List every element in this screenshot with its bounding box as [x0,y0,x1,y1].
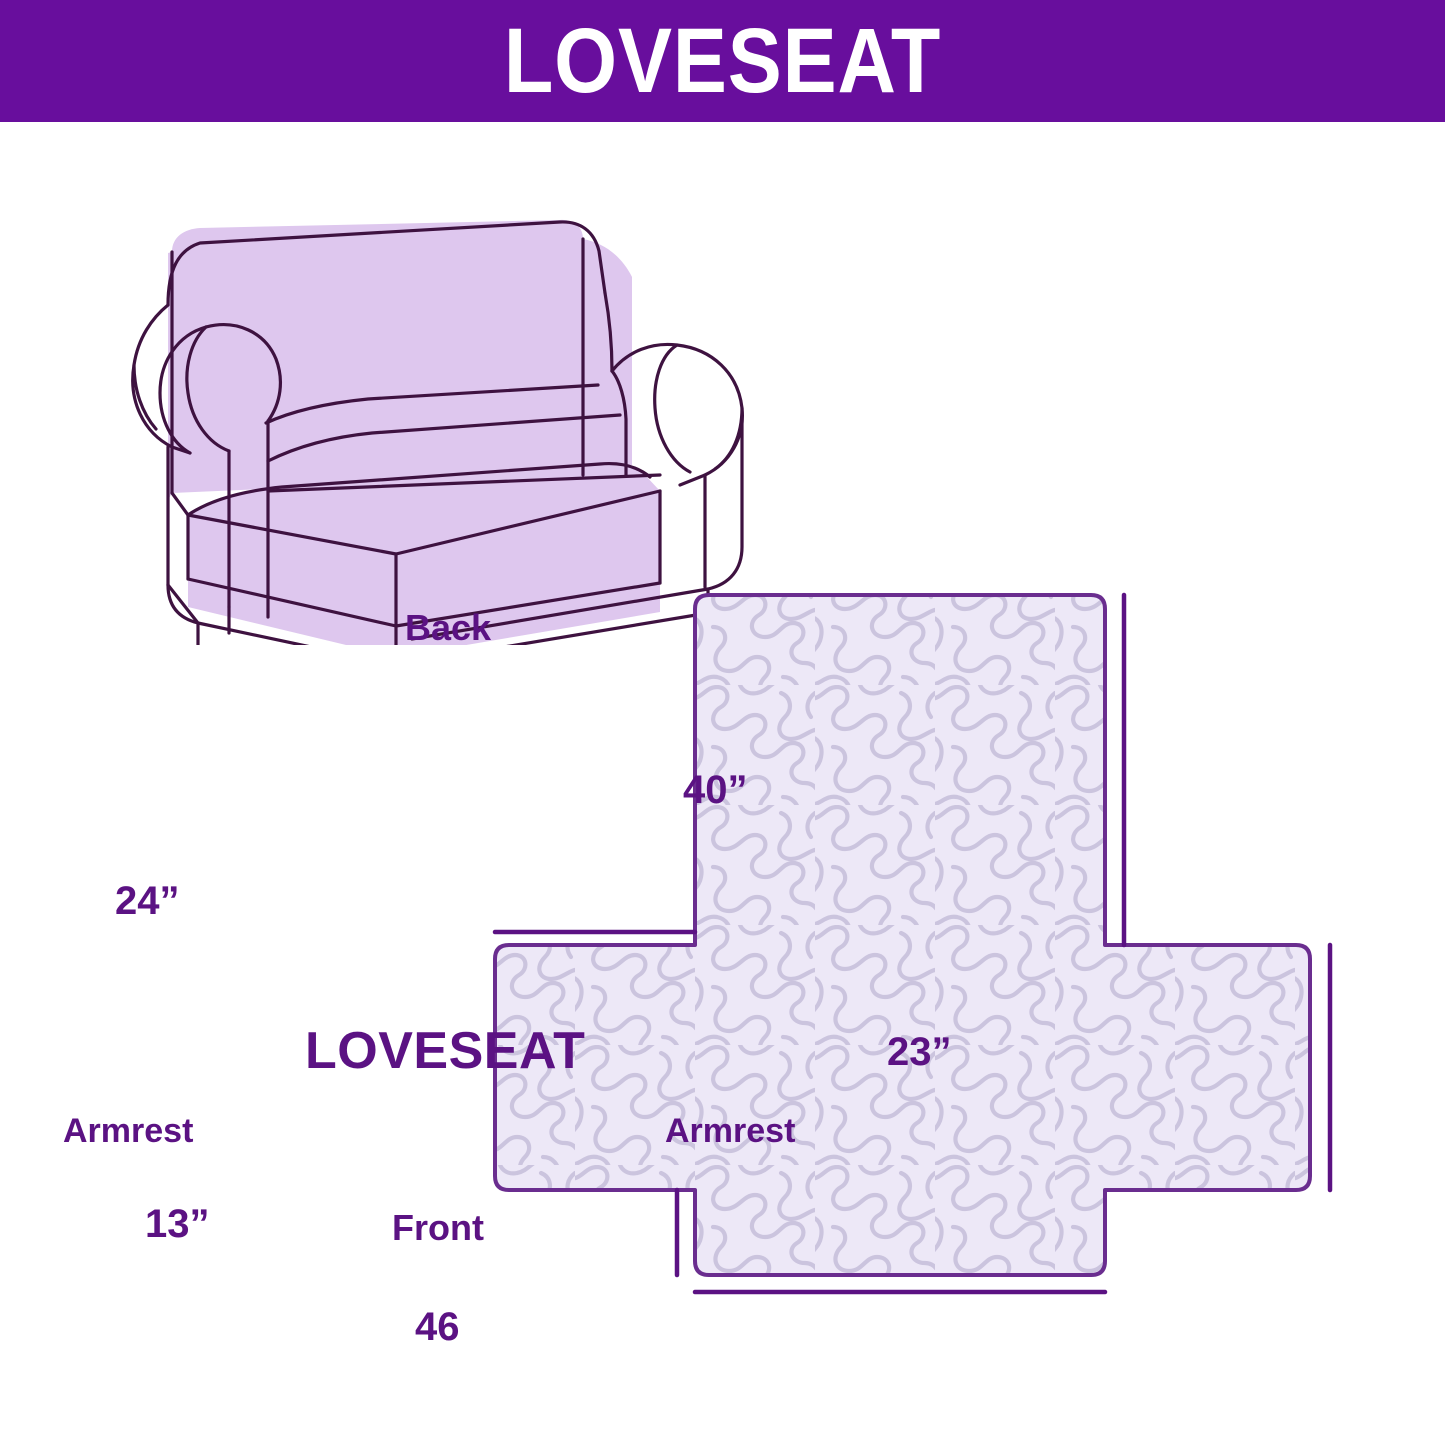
dimension-label-front-width: 46 [415,1305,460,1350]
loveseat-size-guide-page: LOVESEAT [0,0,1445,1445]
page-title: LOVESEAT [504,15,941,107]
panel-label-armrest-left: Armrest [63,1112,193,1151]
cross-shape-svg [455,565,1445,1365]
cross-cover-outline [495,595,1310,1275]
cover-flat-lay-diagram [455,565,1445,1365]
dimension-label-front-drop: 13” [145,1202,210,1247]
dimension-label-armrest-width: 24” [115,879,180,924]
header-banner: LOVESEAT [0,0,1445,122]
